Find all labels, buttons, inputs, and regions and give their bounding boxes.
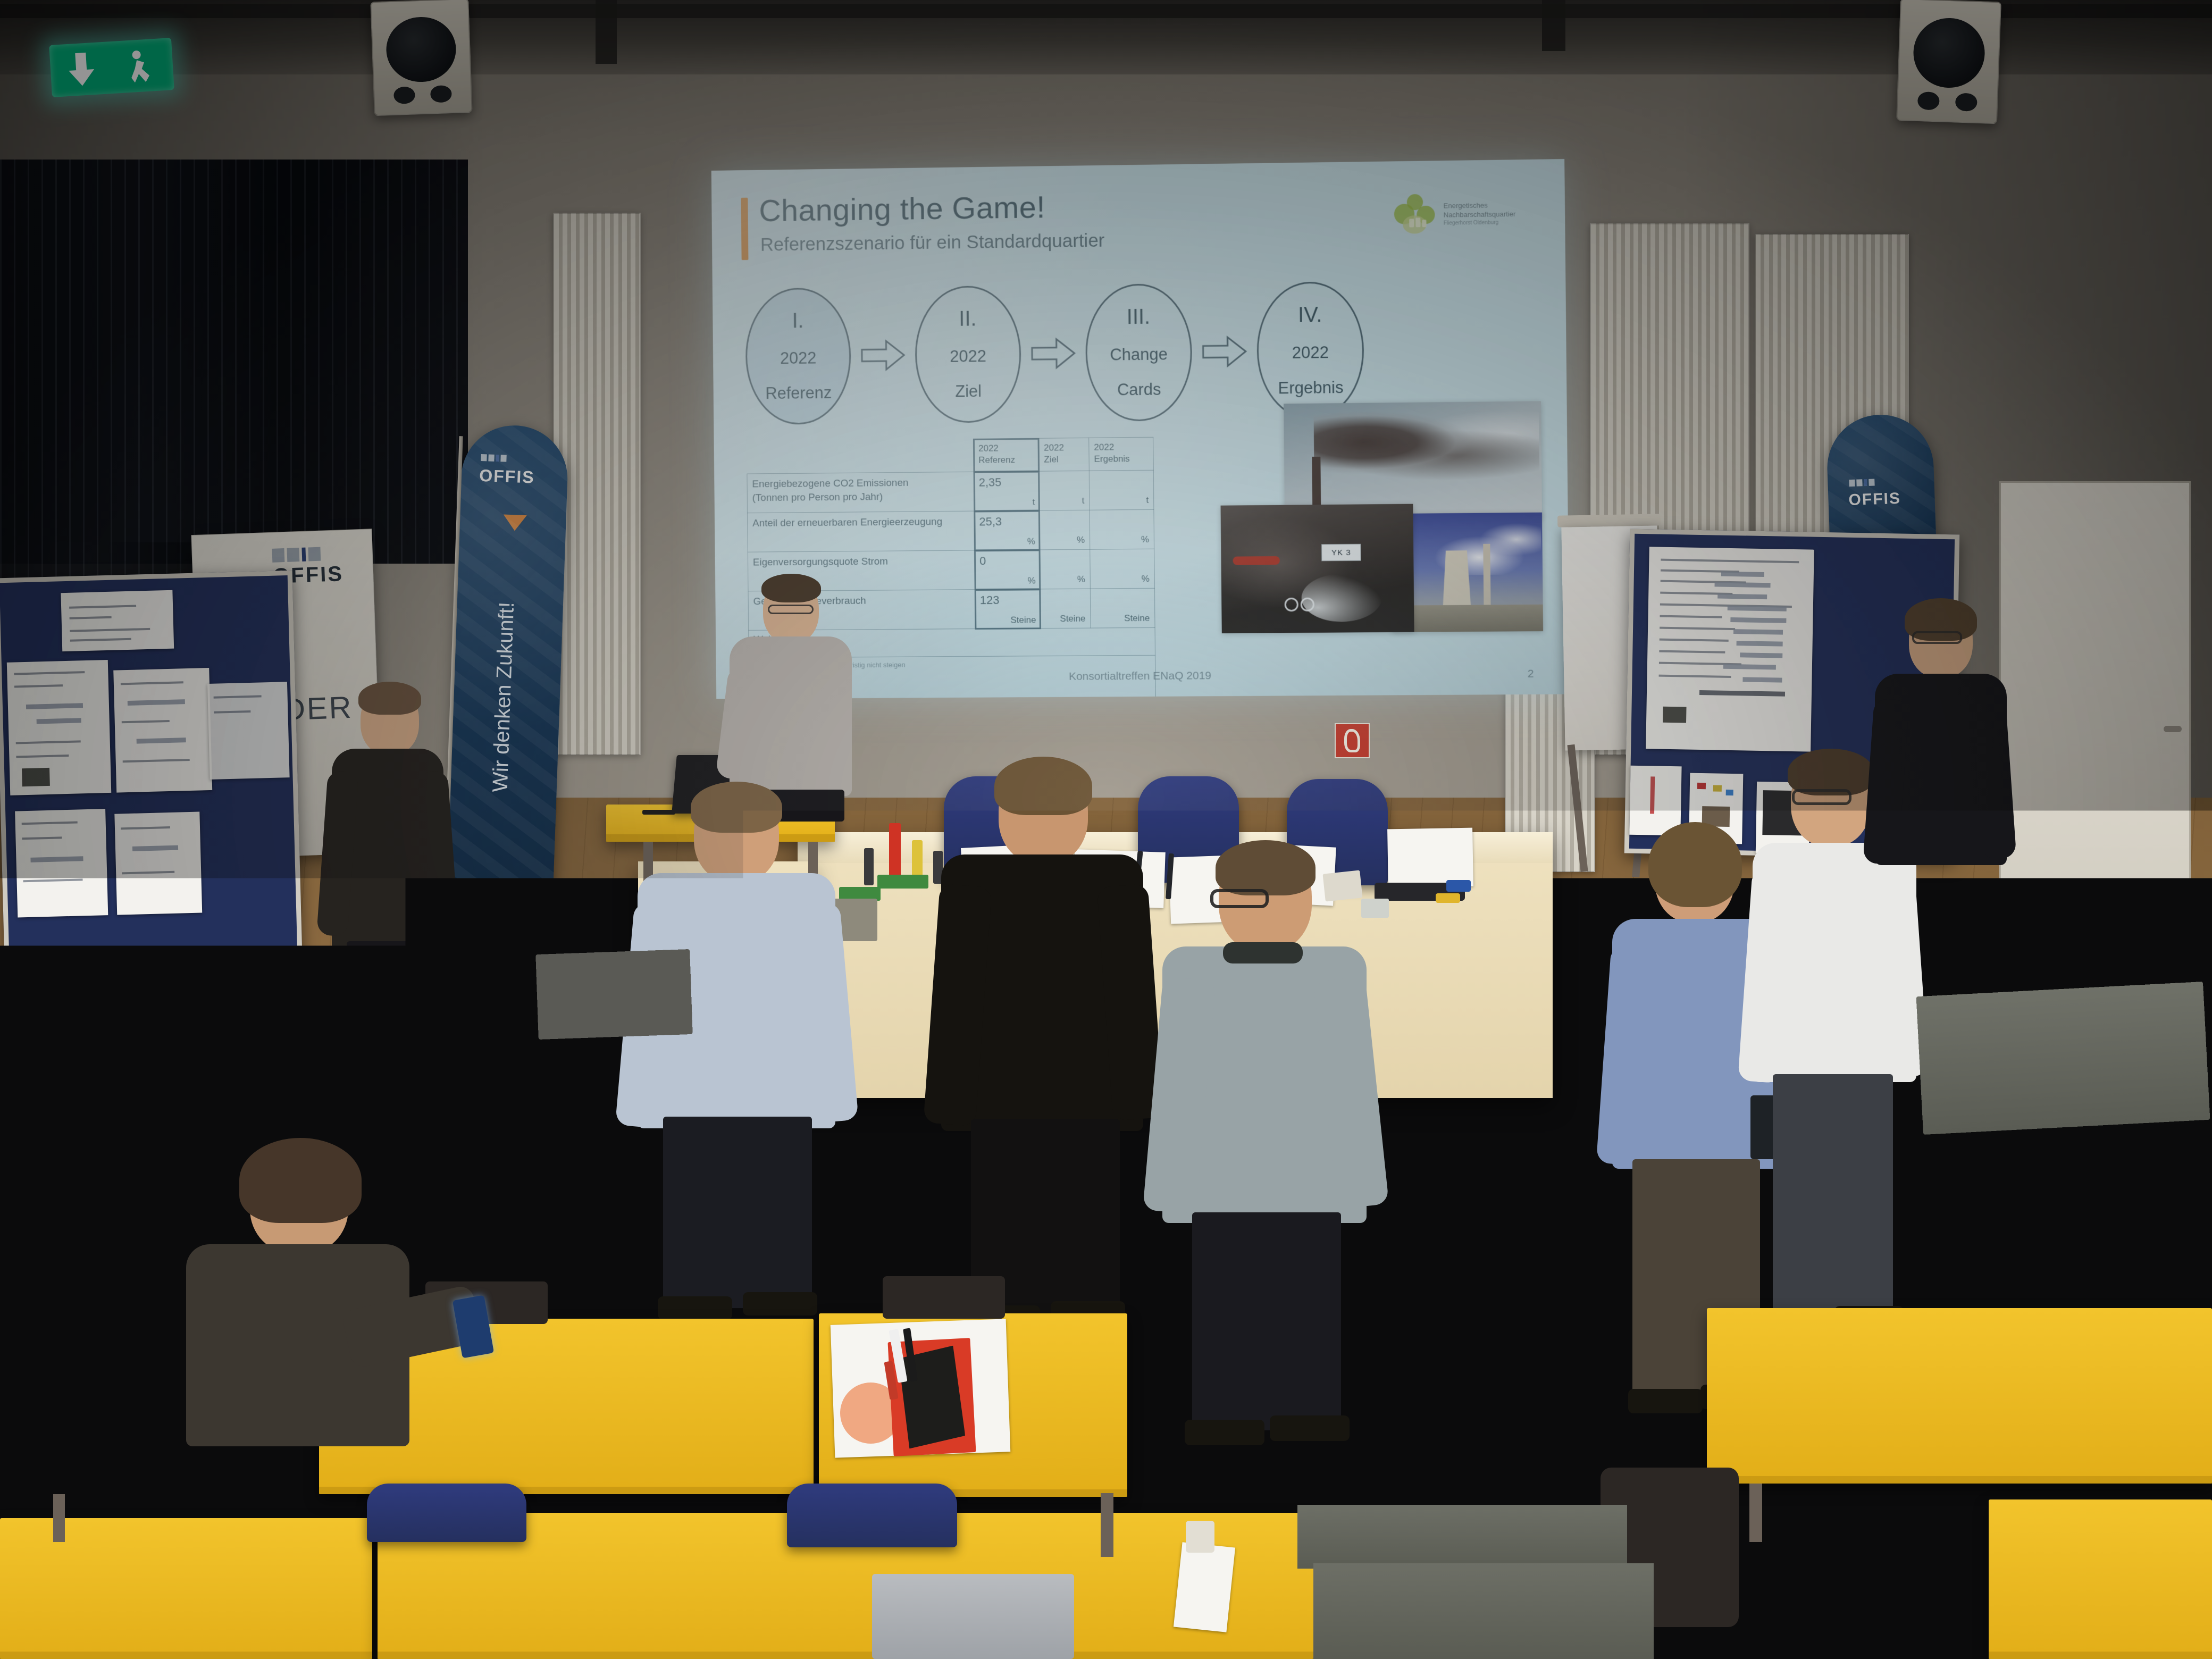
- man-in-grey-sweater: [1159, 845, 1372, 1478]
- smokestack-photo: [1284, 401, 1542, 521]
- name-card: [1387, 828, 1473, 888]
- hair: [994, 757, 1092, 815]
- game-token-green[interactable]: [877, 875, 928, 889]
- man-standing-left: [319, 686, 452, 1111]
- down-arrow-icon: [66, 52, 97, 87]
- step-roman: II.: [959, 307, 977, 331]
- logo-line1: Energetisches: [1443, 200, 1515, 210]
- row-label-sub: (Tonnen pro Person pro Jahr): [752, 491, 883, 504]
- logo-line3: Fliegerhorst Oldenburg: [1444, 219, 1516, 227]
- desk-leg: [1101, 1493, 1113, 1557]
- step-roman: III.: [1127, 305, 1151, 330]
- arrow-right-icon: [1202, 334, 1247, 368]
- cell-referenz: 0%: [975, 550, 1041, 590]
- desk-paper-right: [1746, 1308, 1907, 1414]
- desk-leg: [1749, 1484, 1762, 1542]
- step-year: Change: [1110, 345, 1168, 364]
- hair: [239, 1138, 362, 1223]
- slide-photo-collage: YK 3: [1220, 401, 1543, 633]
- hair-long: [1648, 822, 1742, 907]
- step-circle-3: III. Change Cards: [1085, 283, 1192, 421]
- shoe: [1185, 1420, 1264, 1445]
- col-header-ziel: 2022Ziel: [1039, 438, 1090, 471]
- hair: [358, 682, 421, 715]
- smartphone[interactable]: [453, 1295, 494, 1359]
- shoe: [1628, 1389, 1703, 1413]
- step-label: Ergebnis: [1278, 378, 1343, 398]
- step-year: 2022: [1292, 343, 1329, 363]
- offis-wordmark: OFFIS: [1848, 490, 1901, 509]
- desk-leg: [53, 1494, 65, 1542]
- glasses: [768, 605, 814, 614]
- row-label: Eigenversorgungsquote Strom: [753, 556, 888, 568]
- slide-subtitle: Referenzszenario für ein Standardquartie…: [760, 230, 1105, 256]
- offis-wordmark: OFFIS: [479, 466, 535, 488]
- man-in-light-blue-shirt: [625, 787, 848, 1329]
- hair: [1216, 840, 1316, 895]
- table-row: Energiebezogene CO2 Emissionen (Tonnen p…: [747, 470, 1154, 513]
- row-label: Energiebezogene CO2 Emissionen: [752, 477, 908, 490]
- row-label: Anteil der erneuerbaren Energieerzeugung: [752, 516, 942, 529]
- chair-blue-front[interactable]: [787, 1484, 957, 1547]
- license-plate: YK 3: [1321, 544, 1361, 562]
- fire-extinguisher-sign: [1335, 723, 1370, 758]
- hair: [691, 782, 782, 833]
- shoe: [658, 1296, 732, 1320]
- table-row: Anteil der erneuerbaren Energieerzeugung…: [748, 509, 1154, 552]
- cell-ziel: t: [1039, 471, 1090, 510]
- step-year: 2022: [950, 347, 986, 366]
- lanyard-strap: [1186, 1521, 1214, 1553]
- game-token-red[interactable]: [889, 823, 901, 876]
- chair-seat[interactable]: [883, 1276, 1005, 1319]
- legs: [663, 1117, 812, 1308]
- pinned-sheet: [61, 590, 174, 651]
- pinned-sheet: [207, 682, 290, 780]
- flag-slogan: Wir denken Zukunft!: [489, 601, 519, 792]
- step-label: Referenz: [765, 383, 832, 403]
- cell-ziel: %: [1040, 549, 1091, 589]
- pinned-sheet: [113, 668, 212, 793]
- col-header-ergebnis: 2022Ergebnis: [1089, 437, 1153, 471]
- step-circle-1: I. 2022 Referenz: [745, 287, 851, 425]
- shoe: [743, 1292, 817, 1316]
- door-handle[interactable]: [2164, 726, 2182, 732]
- hair: [761, 574, 821, 602]
- arrow-right-icon: [861, 338, 906, 372]
- marker-yellow[interactable]: [1436, 893, 1460, 903]
- title-accent-bar: [741, 198, 749, 260]
- cell-referenz: 25,3%: [974, 510, 1040, 550]
- glasses: [1792, 789, 1851, 805]
- cell-ziel: %: [1040, 510, 1090, 550]
- badge-lanyard: [1174, 1542, 1235, 1632]
- table-header-row: 2022Referenz 2022Ziel 2022Ergebnis: [747, 437, 1153, 474]
- step-roman: I.: [792, 309, 803, 333]
- left-pinboard: [0, 571, 303, 1003]
- cell-ziel: Steine: [1040, 589, 1091, 629]
- man-in-black-suit: [936, 763, 1149, 1327]
- collar: [1223, 942, 1303, 963]
- cell-ergebnis: %: [1090, 509, 1154, 549]
- cell-ergebnis: %: [1090, 549, 1155, 589]
- pinned-sheet: [114, 812, 202, 915]
- running-person-icon: [128, 47, 157, 84]
- aisle-step: [1313, 1563, 1654, 1659]
- step-year: 2022: [780, 349, 817, 368]
- emergency-exit-sign: [49, 38, 174, 97]
- shoe: [388, 1079, 447, 1099]
- open-laptop-front[interactable]: [872, 1574, 1074, 1659]
- marker-blue[interactable]: [1446, 880, 1471, 892]
- pinned-sheet: [15, 809, 108, 917]
- room-scene: Changing the Game! Referenzszenario für …: [0, 0, 2212, 1659]
- cell-ergebnis: Steine: [1090, 588, 1155, 628]
- step-label: Ziel: [955, 382, 982, 401]
- game-token-dark[interactable]: [864, 848, 874, 885]
- cell-ergebnis: t: [1089, 470, 1154, 510]
- room-door[interactable]: [1999, 481, 2191, 1013]
- aisle-step: [1297, 1505, 1627, 1569]
- step-roman: IV.: [1298, 303, 1322, 328]
- grey-hair: [1904, 1190, 2021, 1254]
- wall-speaker-left: [370, 0, 472, 116]
- slide-title: Changing the Game!: [759, 189, 1045, 229]
- man-at-back-wall: [1872, 604, 2010, 880]
- slide-page-number: 2: [1528, 668, 1534, 681]
- step-label: Cards: [1117, 380, 1161, 400]
- enaq-logo: Energetisches Nachbarschaftsquartier Fli…: [1393, 187, 1532, 240]
- legs: [347, 941, 432, 1095]
- offis-flag-banner-left: OFFIS Wir denken Zukunft!: [446, 424, 569, 906]
- car-exhaust-photo: YK 3: [1221, 504, 1414, 633]
- step-circle-4: IV. 2022 Ergebnis: [1256, 281, 1364, 420]
- pinned-sheet: [1629, 766, 1681, 836]
- pinned-sheet: [7, 660, 111, 795]
- floor-mat: [1916, 982, 2210, 1135]
- glasses: [1210, 889, 1269, 908]
- triangle-decal: [227, 946, 276, 975]
- shoe: [1270, 1415, 1350, 1441]
- col-header-referenz: 2022Referenz: [974, 438, 1040, 472]
- gantt-poster: [1646, 547, 1814, 751]
- logo-line2: Nachbarschaftsquartier: [1444, 210, 1516, 220]
- arrow-right-icon: [1031, 337, 1076, 370]
- hair: [1788, 749, 1874, 795]
- seated-person-with-phone: [170, 1138, 500, 1457]
- floor-mat: [535, 949, 692, 1040]
- chair-blue-front[interactable]: [367, 1484, 526, 1542]
- step-circle-2: II. 2022 Ziel: [915, 285, 1021, 423]
- glasses: [1912, 631, 1962, 644]
- cell-referenz: 2,35t: [974, 471, 1040, 511]
- legs: [1192, 1212, 1341, 1430]
- cell-referenz: 123Steine: [975, 589, 1041, 629]
- enaq-mark-icon: [1393, 192, 1438, 237]
- curtain-left: [0, 160, 468, 564]
- wall-speaker-right: [1896, 0, 2001, 124]
